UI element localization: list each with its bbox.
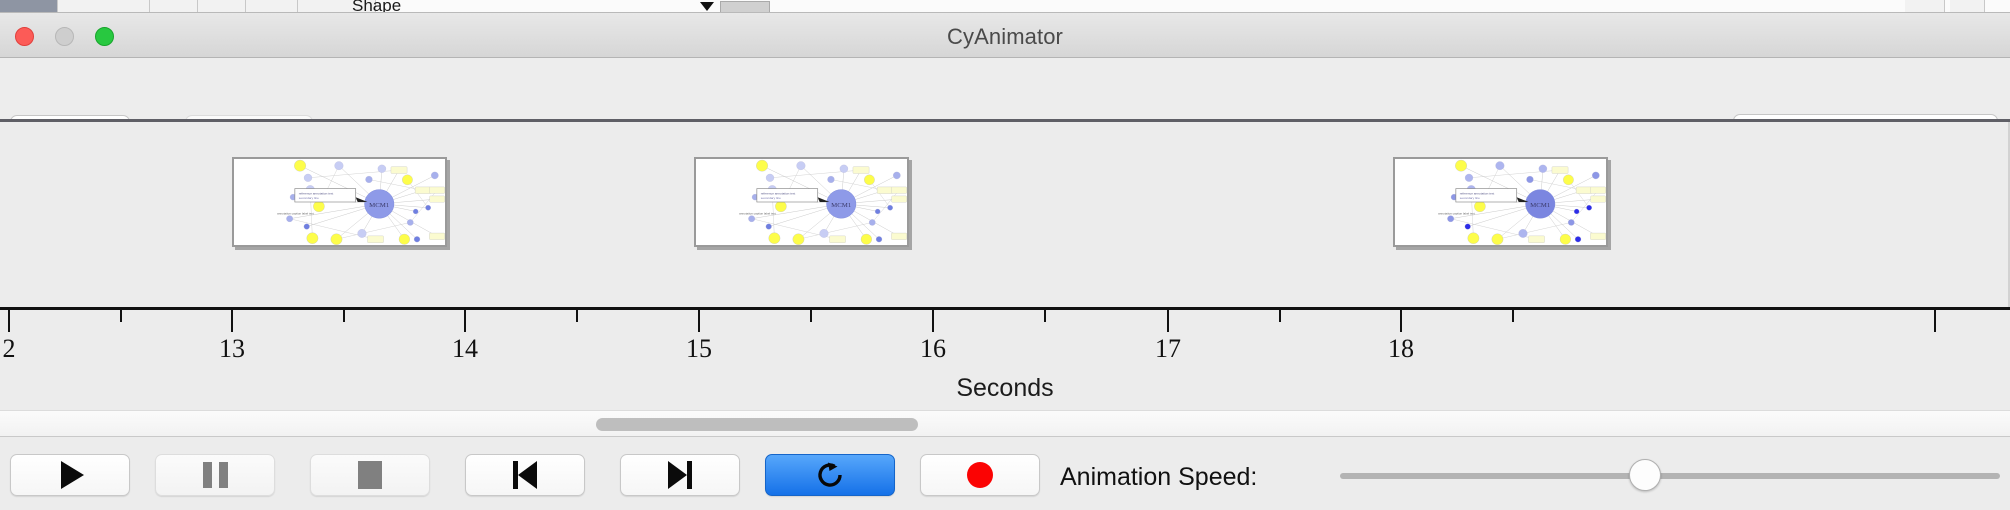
skip-back-icon xyxy=(513,461,537,489)
svg-text:annotation caption label text: annotation caption label text xyxy=(277,211,314,215)
record-icon xyxy=(967,462,993,488)
bg-tab-0 xyxy=(0,0,58,13)
play-button[interactable] xyxy=(10,454,130,496)
axis-tick-15 xyxy=(698,310,700,332)
axis-tick-14 xyxy=(464,310,466,332)
svg-text:MCM1: MCM1 xyxy=(369,202,389,209)
bg-window-label: Shape xyxy=(352,0,401,13)
axis-tick-12.5 xyxy=(120,310,122,322)
axis-tick-12 xyxy=(8,310,10,332)
stop-icon xyxy=(358,461,382,489)
axis-tick-label-13: 13 xyxy=(219,334,245,364)
svg-text:secondary line: secondary line xyxy=(761,196,781,200)
bg-slider xyxy=(720,1,770,13)
axis-tick-18 xyxy=(1400,310,1402,332)
bg-arrow-icon xyxy=(700,2,714,11)
axis-tick-13.5 xyxy=(343,310,345,322)
svg-text:reference annotation text: reference annotation text xyxy=(299,191,334,195)
bg-tab-1 xyxy=(58,0,150,13)
axis-tick-17 xyxy=(1167,310,1169,332)
axis-tick-label-16: 16 xyxy=(920,334,946,364)
bg-tab-2 xyxy=(150,0,198,13)
svg-text:annotation caption label text: annotation caption label text xyxy=(739,211,776,215)
axis-tick-13 xyxy=(231,310,233,332)
svg-text:secondary line: secondary line xyxy=(299,196,319,200)
scrollbar-thumb[interactable] xyxy=(596,418,918,431)
axis-tick-label-18: 18 xyxy=(1388,334,1414,364)
play-icon xyxy=(61,461,84,489)
axis-tick-16.5 xyxy=(1044,310,1046,322)
axis-tick-14.5 xyxy=(576,310,578,322)
timeline-scrollbar[interactable] xyxy=(0,410,2010,436)
bg-tab-4 xyxy=(246,0,298,13)
frame-thumbnail[interactable]: MCM1 reference annotation text secondary… xyxy=(694,157,909,247)
skip-forward-icon xyxy=(668,461,692,489)
svg-text:MCM1: MCM1 xyxy=(1530,202,1550,209)
bg-tab-6 xyxy=(1905,0,1945,13)
bg-tab-7 xyxy=(1950,0,1985,13)
loop-button[interactable] xyxy=(765,454,895,496)
skip-forward-button[interactable] xyxy=(620,454,740,496)
timeline-panel[interactable]: Seconds 2131415161718 MCM1 reference ann… xyxy=(0,122,2010,410)
frame-thumbnail[interactable]: MCM1 reference annotation text secondary… xyxy=(232,157,447,247)
svg-text:reference annotation text: reference annotation text xyxy=(1460,191,1495,195)
playback-controlbar: Animation Speed: xyxy=(0,436,2010,510)
loop-icon xyxy=(815,460,845,490)
timeline-axis xyxy=(0,307,2010,310)
axis-tick-label-14: 14 xyxy=(452,334,478,364)
pause-icon xyxy=(203,462,228,488)
record-button[interactable] xyxy=(920,454,1040,496)
frame-thumbnail[interactable]: MCM1 reference annotation text secondary… xyxy=(1393,157,1608,247)
toolbar: Clear All Frames xyxy=(0,58,2010,120)
axis-tick-19 xyxy=(1934,310,1936,332)
axis-tick-label-17: 17 xyxy=(1155,334,1181,364)
axis-tick-16 xyxy=(932,310,934,332)
axis-tick-label-15: 15 xyxy=(686,334,712,364)
skip-back-button[interactable] xyxy=(465,454,585,496)
animation-speed-slider[interactable] xyxy=(1340,473,2000,479)
slider-knob[interactable] xyxy=(1629,459,1661,491)
svg-text:annotation caption label text: annotation caption label text xyxy=(1438,211,1475,215)
page-title: CyAnimator xyxy=(0,24,2010,50)
axis-tick-17.5 xyxy=(1279,310,1281,322)
titlebar: CyAnimator xyxy=(0,13,2010,58)
svg-text:reference annotation text: reference annotation text xyxy=(761,191,796,195)
stop-button[interactable] xyxy=(310,454,430,496)
background-window: Shape xyxy=(0,0,2010,13)
pause-button[interactable] xyxy=(155,454,275,496)
axis-title: Seconds xyxy=(0,374,2010,403)
animation-speed-label: Animation Speed: xyxy=(1060,463,1257,492)
axis-tick-15.5 xyxy=(810,310,812,322)
axis-tick-18.5 xyxy=(1512,310,1514,322)
bg-tab-3 xyxy=(198,0,246,13)
axis-tick-label-12: 2 xyxy=(3,334,16,364)
svg-text:MCM1: MCM1 xyxy=(831,202,851,209)
cyanimator-window: Shape CyAnimator Clear All Frames xyxy=(0,0,2010,510)
svg-text:secondary line: secondary line xyxy=(1460,196,1480,200)
